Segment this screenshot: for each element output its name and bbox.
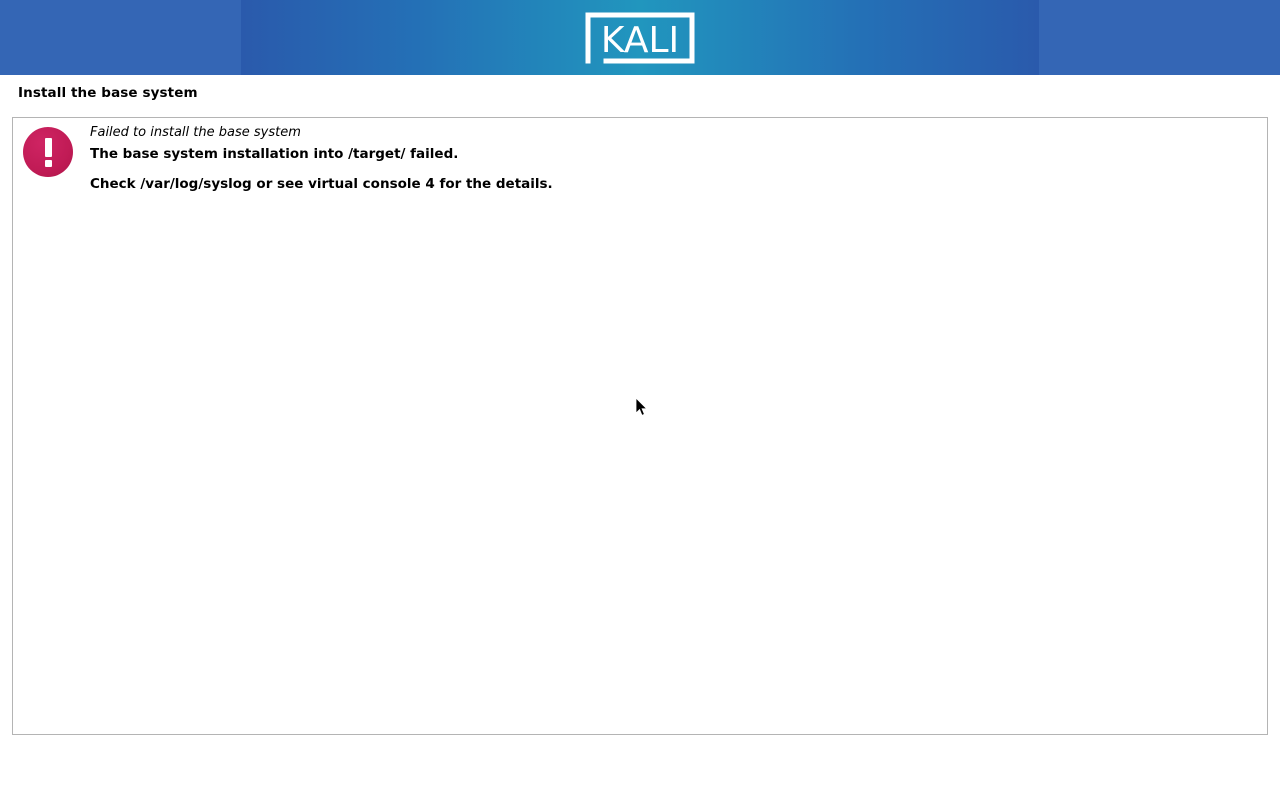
error-text-group: Failed to install the base system The ba… (79, 124, 1179, 193)
kali-logo: KALI (584, 11, 696, 65)
error-detail: Check /var/log/syslog or see virtual con… (90, 175, 1179, 193)
page-title: Install the base system (18, 85, 198, 101)
exclamation-bar (45, 138, 52, 157)
error-subtitle: Failed to install the base system (90, 124, 1179, 142)
error-headline: The base system installation into /targe… (90, 145, 1179, 163)
error-exclamation-icon (23, 127, 73, 177)
exclamation-dot (45, 160, 52, 167)
content-panel: Failed to install the base system The ba… (12, 117, 1268, 735)
footer-bar: Screenshot Go Back Continue (0, 735, 1280, 800)
installer-banner: KALI (0, 0, 1280, 75)
svg-text:KALI: KALI (601, 20, 679, 61)
installer-window: KALI Install the base system Failed to i… (0, 0, 1280, 800)
